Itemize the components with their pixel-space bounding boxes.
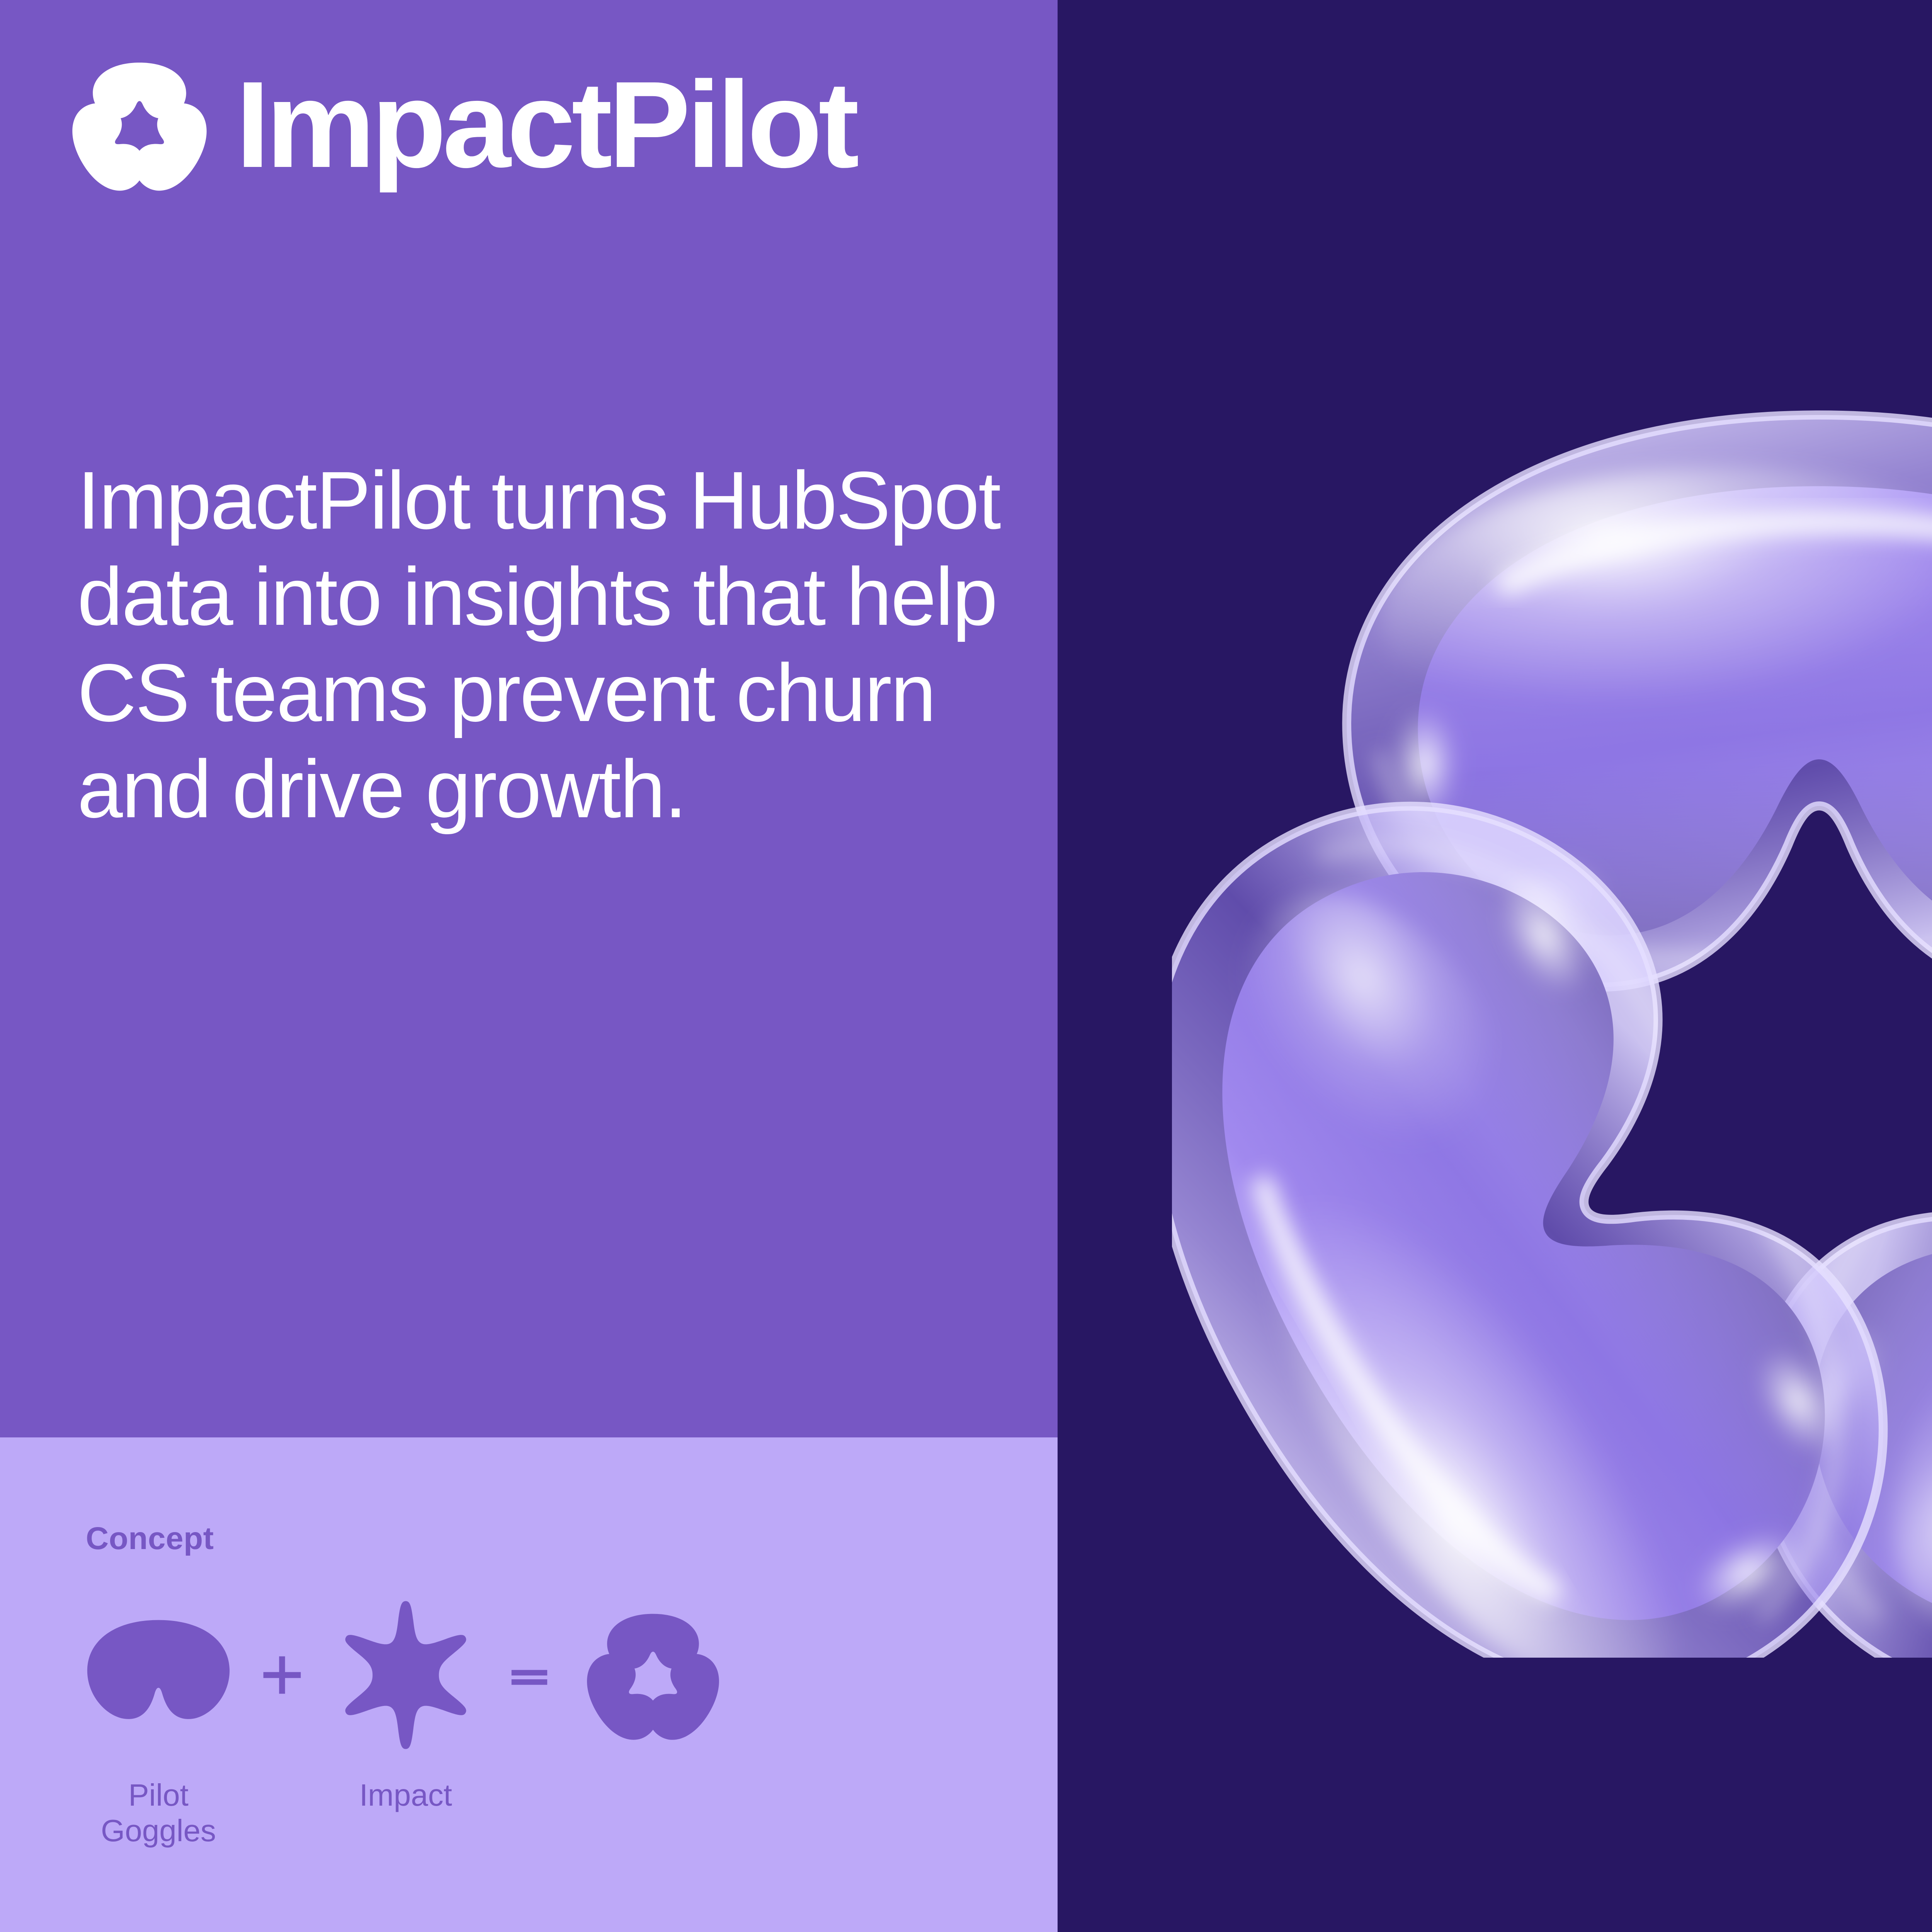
concept-labels: Pilot Goggles Impact bbox=[73, 1777, 1009, 1849]
page-headline: ImpactPilot turns HubSpot data into insi… bbox=[77, 452, 1005, 837]
impact-star-icon bbox=[321, 1592, 491, 1758]
plus-icon bbox=[243, 1592, 321, 1758]
brand-lockup: ImpactPilot bbox=[69, 54, 855, 196]
concept-equation bbox=[73, 1592, 1009, 1758]
concept-title: Concept bbox=[86, 1520, 214, 1557]
concept-panel: Concept bbox=[0, 1437, 1058, 1932]
concept-label-result bbox=[568, 1777, 738, 1849]
concept-label-impact: Impact bbox=[321, 1777, 491, 1849]
equals-icon bbox=[491, 1592, 568, 1758]
brand-panel: ImpactPilot ImpactPilot turns HubSpot da… bbox=[0, 0, 1058, 1437]
impactpilot-logo-icon bbox=[69, 54, 210, 196]
concept-label-spacer-2 bbox=[491, 1777, 568, 1849]
concept-label-goggles: Pilot Goggles bbox=[73, 1777, 243, 1849]
render-panel: 3D Render Simulation bbox=[1058, 0, 1932, 1932]
concept-result-logo-icon bbox=[568, 1592, 738, 1758]
pilot-goggles-icon bbox=[73, 1592, 243, 1758]
glass-3d-logo-render bbox=[1172, 363, 1932, 1658]
concept-label-spacer-1 bbox=[243, 1777, 321, 1849]
poster-canvas: ImpactPilot ImpactPilot turns HubSpot da… bbox=[0, 0, 1932, 1932]
brand-wordmark: ImpactPilot bbox=[236, 63, 855, 186]
